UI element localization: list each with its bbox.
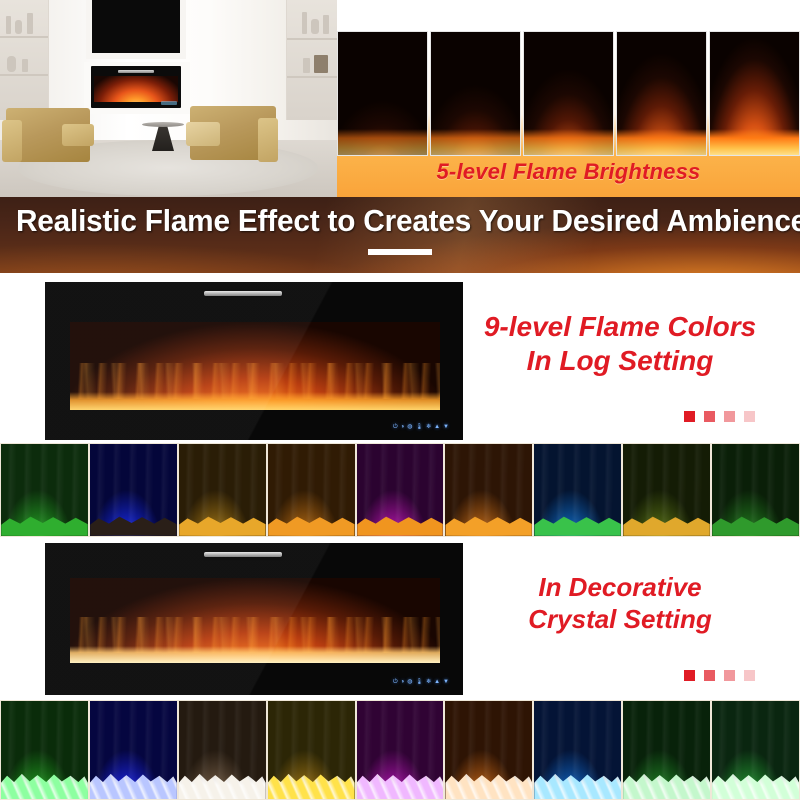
flame-color-swatch-deep-green bbox=[711, 443, 800, 537]
crystal-color-swatch-row bbox=[0, 700, 800, 800]
ember-base bbox=[617, 129, 706, 155]
brightness-level-1 bbox=[337, 31, 428, 156]
fireplace-unit-log: ⏻ ◑ ◍ 🌡 ❄ ▲ ▼ bbox=[45, 282, 463, 440]
thermostat-icon[interactable]: ❄ bbox=[426, 679, 431, 685]
ember-base bbox=[431, 129, 520, 155]
flame-color-swatch-gold bbox=[267, 700, 356, 800]
flame-color-swatch-orange bbox=[444, 443, 533, 537]
shelf-decor-object bbox=[27, 13, 33, 34]
brightness-level-4 bbox=[616, 31, 707, 156]
tv-screen bbox=[92, 0, 180, 53]
crystal-caption-line-1: In Decorative bbox=[538, 572, 701, 602]
indicator-dot bbox=[744, 670, 755, 681]
shelf-line bbox=[0, 36, 48, 38]
flame-color-swatch-cyan-blue bbox=[533, 700, 622, 800]
brightness-level-strip bbox=[337, 31, 800, 156]
crystal-bed bbox=[70, 646, 440, 663]
log-setting-caption: 9-level Flame Colors In Log Setting bbox=[455, 310, 785, 378]
fireplace-handle-bar bbox=[118, 70, 154, 73]
crystal-color-indicator-dots bbox=[684, 670, 755, 681]
shelf-decor-object bbox=[7, 56, 16, 72]
unit-handle-bar-crystal bbox=[204, 552, 282, 557]
flame-color-swatch-yellow bbox=[178, 443, 267, 537]
ember-base bbox=[710, 129, 799, 155]
shelf-line bbox=[287, 38, 337, 40]
indicator-dot bbox=[704, 670, 715, 681]
timer-icon[interactable]: ◍ bbox=[407, 424, 412, 430]
right-bookshelf bbox=[286, 0, 337, 120]
log-color-indicator-dots bbox=[684, 411, 755, 422]
flame-color-swatch-blue bbox=[89, 700, 178, 800]
thermostat-icon[interactable]: ❄ bbox=[426, 424, 431, 430]
books bbox=[314, 55, 328, 73]
timer-icon[interactable]: ◍ bbox=[407, 679, 412, 685]
brightness-caption: 5-level Flame Brightness bbox=[337, 159, 800, 185]
side-table-top bbox=[142, 122, 184, 127]
flame-color-swatch-green-3 bbox=[711, 700, 800, 800]
brightness-level-2 bbox=[430, 31, 521, 156]
flame-icon[interactable]: ◑ bbox=[401, 679, 405, 685]
shelf-decor-object bbox=[15, 20, 22, 34]
flame-display-crystal bbox=[70, 578, 440, 663]
shelf-decor-object bbox=[6, 16, 11, 34]
log-color-swatch-row bbox=[0, 443, 800, 537]
flame-color-swatch-magenta bbox=[356, 700, 445, 800]
up-arrow-icon[interactable]: ▲ bbox=[434, 424, 440, 430]
brand-logo bbox=[161, 101, 177, 105]
flame-icon[interactable]: ◑ bbox=[401, 424, 405, 430]
down-arrow-icon[interactable]: ▼ bbox=[443, 424, 449, 430]
indicator-dot bbox=[704, 411, 715, 422]
shelf-line bbox=[0, 74, 48, 76]
ember-base bbox=[338, 129, 427, 155]
indicator-dot bbox=[744, 411, 755, 422]
control-panel-crystal[interactable]: ⏻ ◑ ◍ 🌡 ❄ ▲ ▼ bbox=[393, 679, 449, 685]
flame-color-swatch-green bbox=[0, 443, 89, 537]
flame-brightness-panel: 5-level Flame Brightness bbox=[337, 0, 800, 197]
ember-base bbox=[524, 129, 613, 155]
fireplace-flame-display bbox=[94, 76, 178, 102]
crystal-setting-caption: In Decorative Crystal Setting bbox=[455, 572, 785, 635]
flame-color-swatch-green-2 bbox=[622, 700, 711, 800]
top-section: 5-level Flame Brightness bbox=[0, 0, 800, 197]
shelf-decor-object bbox=[302, 12, 307, 34]
armchair-left-arm bbox=[2, 120, 22, 162]
indicator-dot bbox=[684, 411, 695, 422]
fireplace-unit-crystal: ⏻ ◑ ◍ 🌡 ❄ ▲ ▼ bbox=[45, 543, 463, 695]
title-underline-rule bbox=[368, 249, 432, 255]
shelf-decor-object bbox=[311, 19, 319, 34]
indicator-dot bbox=[724, 411, 735, 422]
brightness-level-5 bbox=[709, 31, 800, 156]
shelf-decor-object bbox=[323, 15, 329, 34]
power-icon[interactable]: ⏻ bbox=[393, 679, 398, 685]
up-arrow-icon[interactable]: ▲ bbox=[434, 679, 440, 685]
power-icon[interactable]: ⏻ bbox=[393, 424, 398, 430]
brightness-level-3 bbox=[523, 31, 614, 156]
indicator-dot bbox=[724, 670, 735, 681]
flame-color-swatch-magenta bbox=[356, 443, 445, 537]
living-room-scene-image bbox=[0, 0, 337, 197]
recessed-fireplace-unit bbox=[91, 66, 181, 108]
ember-bed-log bbox=[70, 392, 440, 410]
crystal-caption-line-2: Crystal Setting bbox=[455, 604, 785, 636]
flame-color-swatch-orange bbox=[444, 700, 533, 800]
armchair-left-seat bbox=[62, 124, 94, 146]
flame-display-log bbox=[70, 322, 440, 410]
flame-color-swatch-teal-blue bbox=[533, 443, 622, 537]
log-caption-line-1: 9-level Flame Colors bbox=[484, 311, 756, 342]
flame-color-swatch-warm-white bbox=[178, 700, 267, 800]
control-panel-log[interactable]: ⏻ ◑ ◍ 🌡 ❄ ▲ ▼ bbox=[393, 424, 449, 430]
flame-color-swatch-green bbox=[0, 700, 89, 800]
shelf-decor-object bbox=[303, 58, 310, 73]
page-title: Realistic Flame Effect to Creates Your D… bbox=[16, 203, 784, 239]
flame-color-swatch-blue bbox=[89, 443, 178, 537]
indicator-dot bbox=[684, 670, 695, 681]
product-infographic-page: 5-level Flame Brightness Realistic Flame… bbox=[0, 0, 800, 800]
shelf-line bbox=[287, 76, 337, 78]
unit-handle-bar-log bbox=[204, 291, 282, 296]
temperature-icon[interactable]: 🌡 bbox=[415, 679, 423, 685]
headline-banner: Realistic Flame Effect to Creates Your D… bbox=[0, 197, 800, 273]
flame-color-swatch-olive-green bbox=[622, 443, 711, 537]
log-caption-line-2: In Log Setting bbox=[455, 344, 785, 378]
flame-color-swatch-amber bbox=[267, 443, 356, 537]
down-arrow-icon[interactable]: ▼ bbox=[443, 679, 449, 685]
armchair-right-seat bbox=[186, 122, 220, 146]
temperature-icon[interactable]: 🌡 bbox=[415, 424, 423, 430]
armchair-right-arm bbox=[258, 118, 278, 162]
shelf-decor-object bbox=[22, 59, 28, 72]
